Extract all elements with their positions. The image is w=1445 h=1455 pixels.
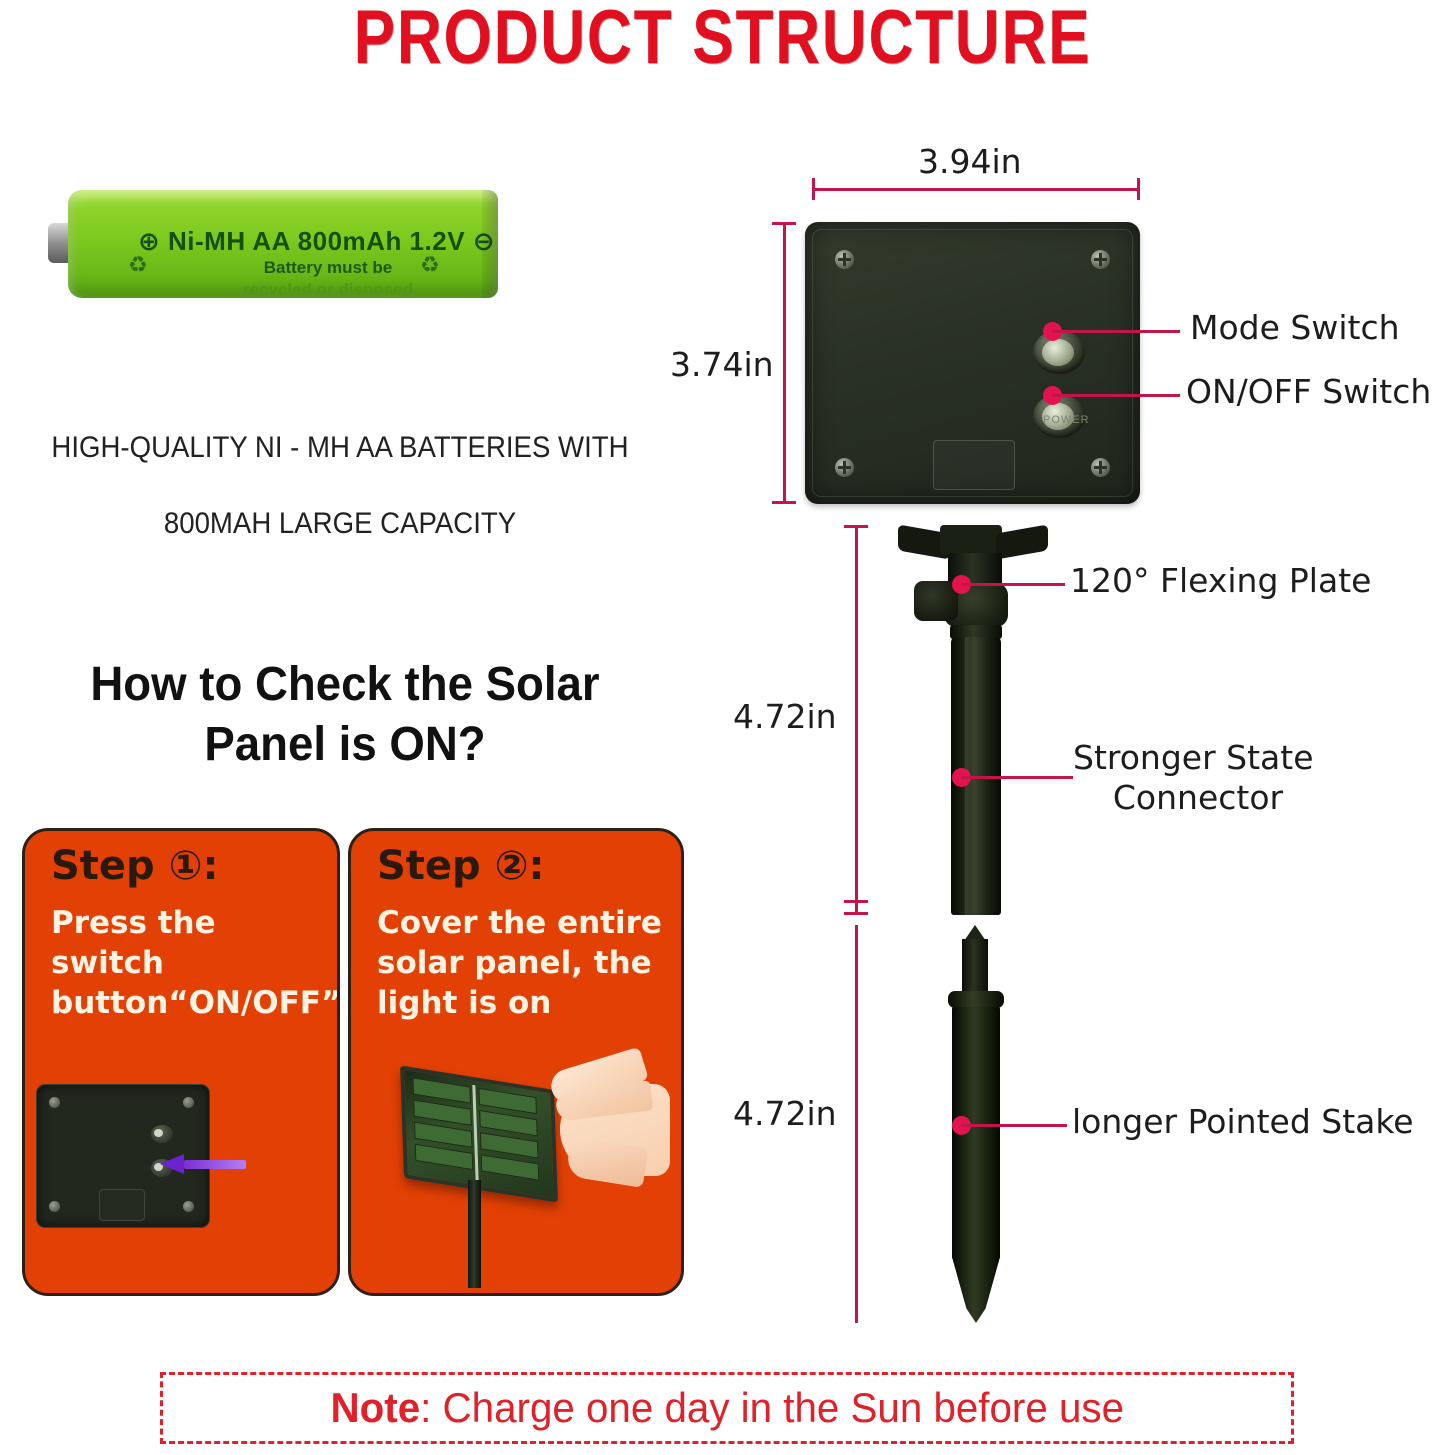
step-2-body-line2: solar panel, the <box>377 943 667 983</box>
dimension-cap <box>812 178 815 200</box>
callout-label-onoff-switch: ON/OFF Switch <box>1186 372 1431 412</box>
callout-line-pointed-stake <box>961 1124 1067 1127</box>
mode-switch-button-inset[interactable] <box>151 1125 173 1143</box>
callout-line-onoff-switch <box>1052 394 1180 397</box>
step-1-inset-photo <box>28 1078 252 1260</box>
recycle-icon: ♻ <box>128 252 148 278</box>
howto-heading-line2: Panel is ON? <box>17 715 673 775</box>
dimension-cap <box>844 912 868 915</box>
step-1-heading: Step ①: <box>51 843 218 889</box>
step-1-body: Press the switch button“ON/OFF” <box>51 903 323 1023</box>
battery-compartment-tab <box>933 440 1015 490</box>
screw-icon <box>1091 458 1110 477</box>
screw-icon <box>835 250 854 269</box>
hand-icon <box>542 1050 670 1190</box>
dimension-line-panel-height <box>783 222 786 504</box>
crossed-bin-icon: ♻ <box>420 252 440 278</box>
step-1-body-line1: Press the switch <box>51 903 323 983</box>
howto-heading: How to Check the Solar Panel is ON? <box>17 655 673 775</box>
step-2-inset-photo <box>392 1040 670 1288</box>
dimension-label-stake: 4.72in <box>733 1094 837 1133</box>
note-message: Charge one day in the Sun before use <box>442 1384 1123 1431</box>
battery-spec-text: ⊕ Ni-MH AA 800mAh 1.2V ⊖ <box>138 226 528 257</box>
step-1-body-line2: button“ON/OFF” <box>51 983 323 1023</box>
callout-line-mode-switch <box>1052 330 1180 333</box>
battery-caption-line1: HIGH-QUALITY NI - MH AA BATTERIES WITH <box>36 410 643 486</box>
howto-heading-line1: How to Check the Solar <box>17 655 673 715</box>
dimension-line-connector <box>855 525 858 915</box>
battery-caption-line2: 800MAH LARGE CAPACITY <box>36 486 643 562</box>
callout-label-pointed-stake: longer Pointed Stake <box>1072 1102 1414 1142</box>
screw-icon <box>1091 250 1110 269</box>
battery-door-tab <box>99 1189 145 1221</box>
step-2-body: Cover the entire solar panel, the light … <box>377 903 667 1023</box>
step-2-body-line3: light is on <box>377 983 667 1023</box>
dimension-cap <box>1137 178 1140 200</box>
dimension-cap <box>772 501 796 504</box>
step-2-body-line1: Cover the entire <box>377 903 667 943</box>
note-text: Note: Charge one day in the Sun before u… <box>330 1384 1123 1432</box>
stake-collar <box>948 991 1004 1008</box>
power-label: POWER <box>1043 414 1090 426</box>
dimension-line-panel-width <box>812 188 1140 191</box>
page-title: PRODUCT STRUCTURE <box>130 0 1315 81</box>
screw-icon <box>183 1097 194 1108</box>
dimension-cap <box>844 525 868 528</box>
dimension-label-panel-height: 3.74in <box>670 345 774 384</box>
screw-icon <box>49 1097 60 1108</box>
screw-icon <box>49 1201 60 1212</box>
dimension-line-stake <box>855 925 858 1323</box>
solar-panel-back-photo: POWER <box>805 222 1140 504</box>
screw-icon <box>183 1201 194 1212</box>
callout-label-mode-switch: Mode Switch <box>1190 308 1400 348</box>
dimension-label-connector: 4.72in <box>733 697 837 736</box>
note-box: Note: Charge one day in the Sun before u… <box>160 1372 1294 1444</box>
battery-warning-line2: recycled or disposed <box>178 280 478 300</box>
callout-label-connector-line1: Stronger State <box>1073 738 1373 778</box>
callout-line-connector <box>961 776 1073 779</box>
callout-label-flexing-plate: 120° Flexing Plate <box>1070 561 1371 601</box>
callout-line-flexing-plate <box>961 583 1065 586</box>
product-structure-infographic: PRODUCT STRUCTURE ⊕ Ni-MH AA 800mAh 1.2V… <box>0 0 1445 1455</box>
callout-label-connector: Stronger State Connector <box>1073 738 1373 818</box>
dimension-label-panel-width: 3.94in <box>918 142 1022 181</box>
battery-body: ⊕ Ni-MH AA 800mAh 1.2V ⊖ Battery must be… <box>68 190 498 298</box>
solar-panel-pole-inset <box>468 1180 481 1288</box>
callout-label-connector-line2: Connector <box>1073 778 1323 818</box>
note-prefix: Note <box>330 1384 420 1431</box>
dimension-cap <box>772 222 796 225</box>
note-separator: : <box>420 1384 442 1431</box>
step-2-heading: Step ②: <box>377 843 544 889</box>
pointer-arrow-icon <box>160 1154 246 1174</box>
screw-icon <box>835 458 854 477</box>
battery-caption: HIGH-QUALITY NI - MH AA BATTERIES WITH 8… <box>36 410 643 562</box>
dimension-cap <box>844 900 868 903</box>
battery-illustration: ⊕ Ni-MH AA 800mAh 1.2V ⊖ Battery must be… <box>30 180 510 310</box>
